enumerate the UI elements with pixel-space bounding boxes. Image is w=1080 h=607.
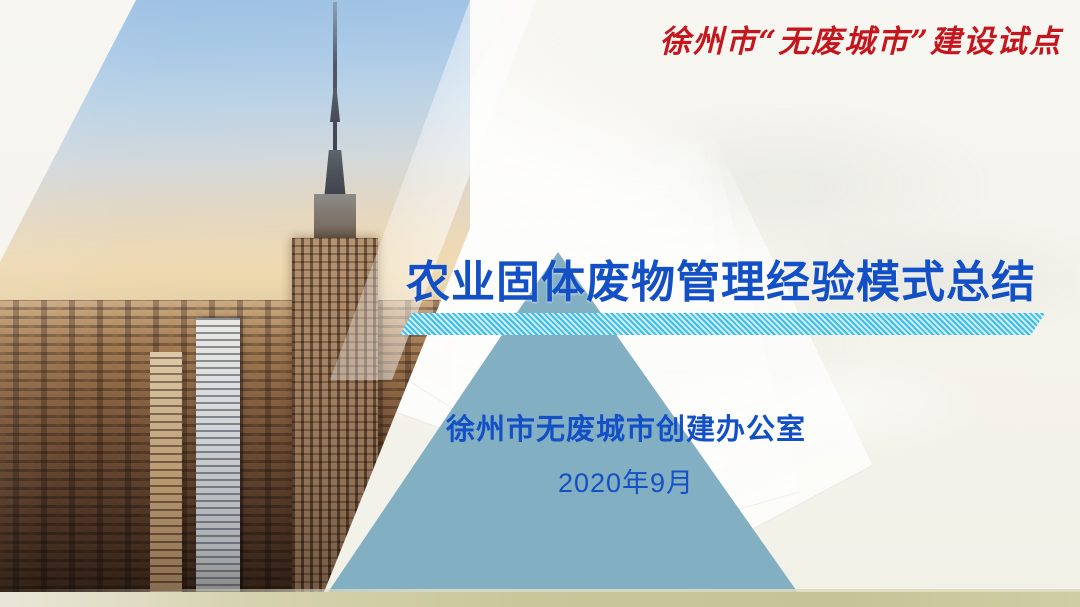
- organization-name: 徐州市无废城市创建办公室: [0, 406, 1080, 448]
- slide-header-banner: 徐州市“无废城市”建设试点: [659, 16, 1062, 61]
- title-accent-bar: [400, 313, 1045, 335]
- presentation-date: 2020年9月: [0, 461, 1080, 500]
- bottom-khaki-band: [0, 592, 1080, 607]
- slide-main-title: 农业固体废物管理经验模式总结: [406, 246, 1036, 310]
- building-spire: [333, 2, 337, 154]
- presentation-slide: 徐州市“无废城市”建设试点 农业固体废物管理经验模式总结 徐州市无废城市创建办公…: [0, 0, 1080, 607]
- building-crown: [324, 150, 346, 200]
